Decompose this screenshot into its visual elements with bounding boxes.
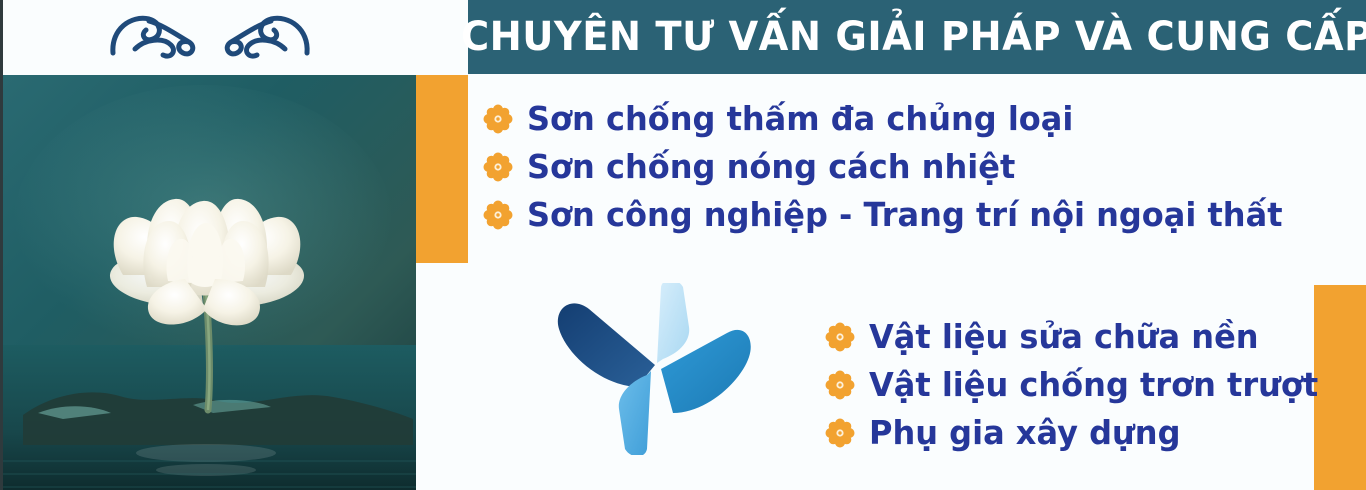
promotional-banner: CHUYÊN TƯ VẤN GIẢI PHÁP VÀ CUNG CẤP — [0, 0, 1366, 490]
list-item: Vật liệu sửa chữa nền — [825, 318, 1315, 357]
list-item-label: Vật liệu chống trơn trượt — [869, 366, 1318, 405]
decorative-flourish-icon — [105, 9, 315, 65]
list-item: Sơn chống nóng cách nhiệt — [483, 148, 1313, 187]
list-item-label: Sơn chống thấm đa chủng loại — [527, 100, 1073, 139]
services-secondary-list: Vật liệu sửa chữa nền Vật liệu chống trơ… — [825, 318, 1315, 462]
flower-bullet-icon — [483, 152, 513, 182]
header-title: CHUYÊN TƯ VẤN GIẢI PHÁP VÀ CUNG CẤP — [461, 17, 1366, 57]
flower-bullet-icon — [825, 322, 855, 352]
list-item: Vật liệu chống trơn trượt — [825, 366, 1315, 405]
flower-bullet-icon — [825, 418, 855, 448]
orange-accent-bar-right — [1314, 285, 1366, 490]
flower-bullet-icon — [483, 200, 513, 230]
list-item-label: Vật liệu sửa chữa nền — [869, 318, 1259, 357]
lotus-photo — [3, 75, 416, 490]
four-petal-pinwheel-logo — [551, 283, 763, 455]
list-item: Sơn chống thấm đa chủng loại — [483, 100, 1313, 139]
flower-bullet-icon — [825, 370, 855, 400]
flower-bullet-icon — [483, 104, 513, 134]
services-primary-list: Sơn chống thấm đa chủng loại Sơn chống n… — [483, 100, 1313, 244]
header-band: CHUYÊN TƯ VẤN GIẢI PHÁP VÀ CUNG CẤP — [468, 0, 1366, 74]
list-item-label: Sơn công nghiệp - Trang trí nội ngoại th… — [527, 196, 1283, 235]
list-item: Sơn công nghiệp - Trang trí nội ngoại th… — [483, 196, 1313, 235]
list-item: Phụ gia xây dựng — [825, 414, 1315, 453]
list-item-label: Phụ gia xây dựng — [869, 414, 1180, 453]
orange-accent-bar-left — [416, 75, 468, 263]
list-item-label: Sơn chống nóng cách nhiệt — [527, 148, 1015, 187]
ornament-area — [3, 0, 416, 74]
